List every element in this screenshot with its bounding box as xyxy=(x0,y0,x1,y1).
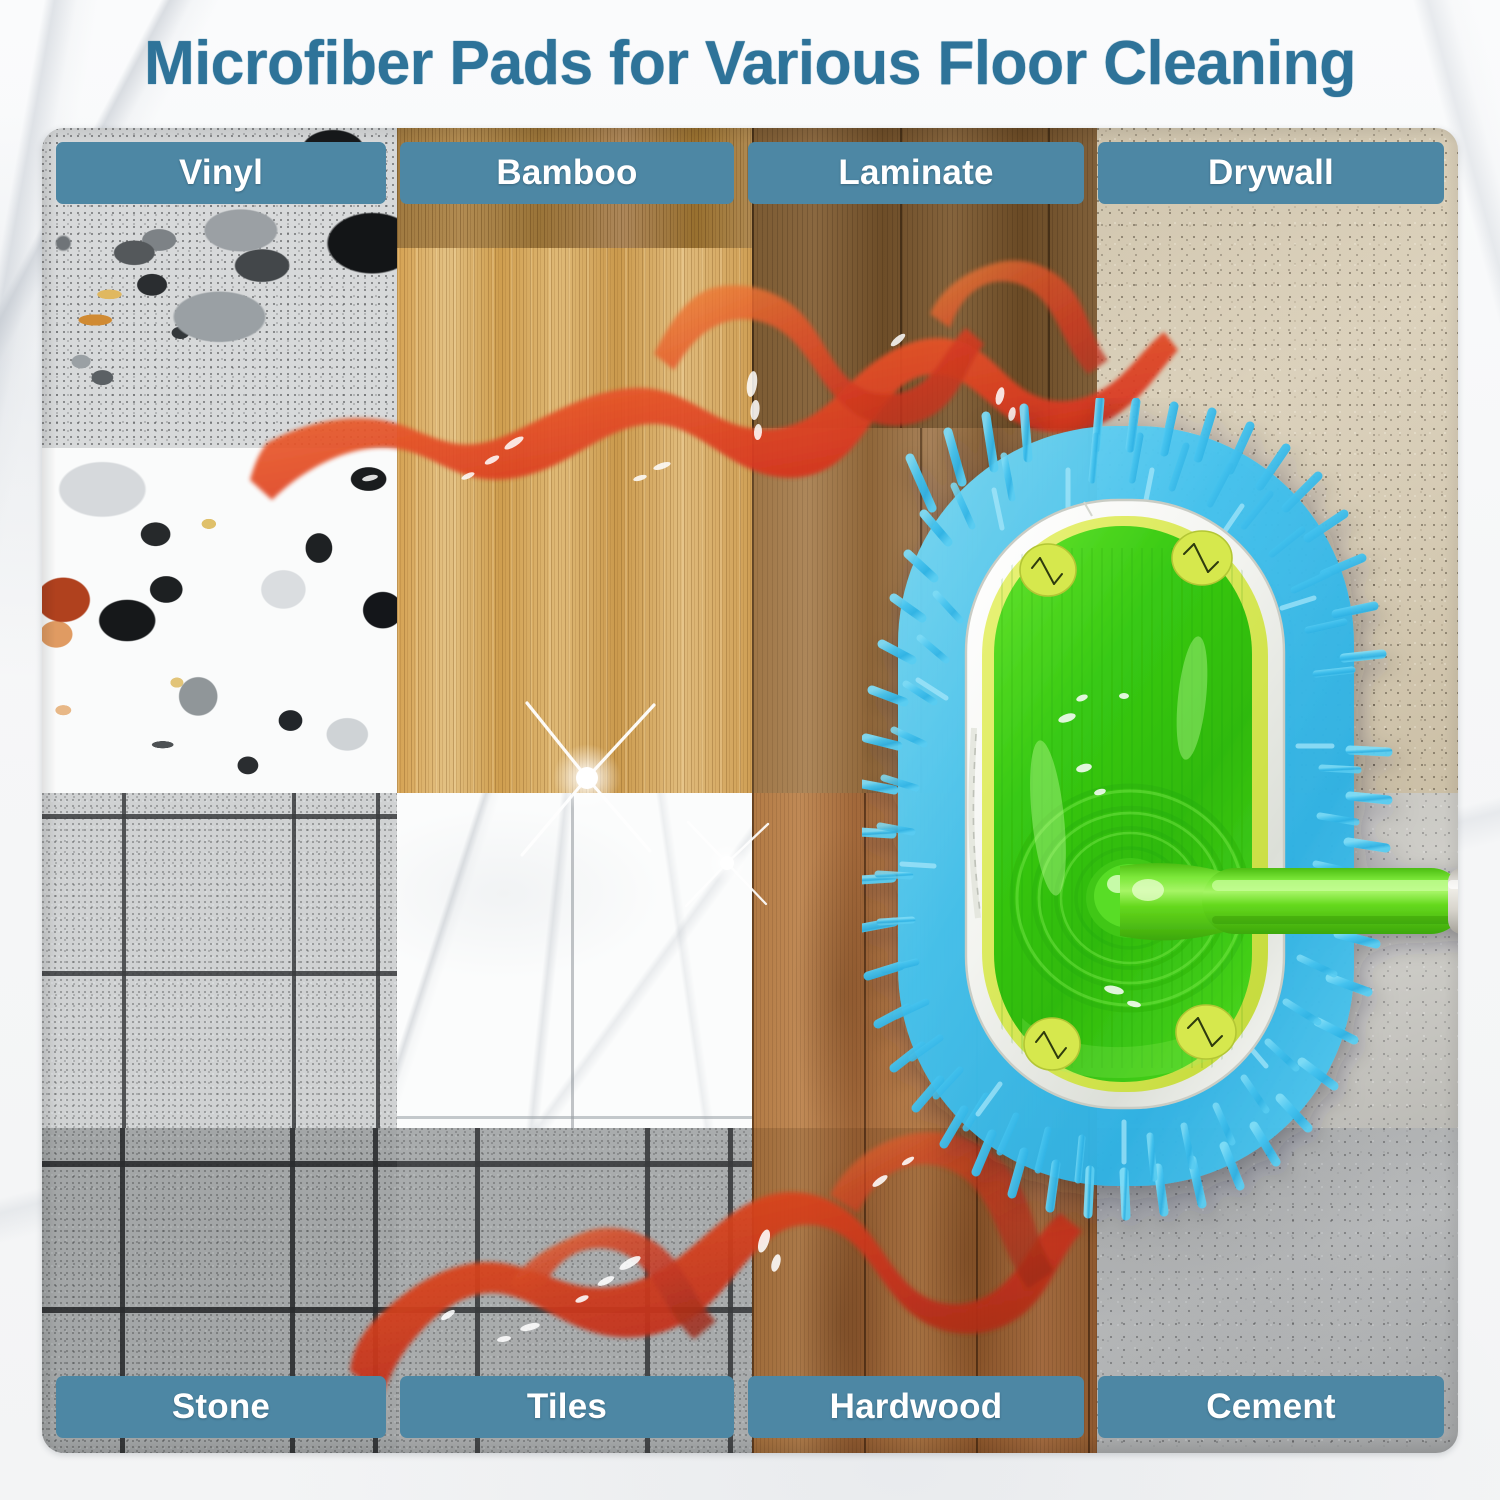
label-cement-text: Cement xyxy=(1206,1387,1336,1427)
label-laminate-text: Laminate xyxy=(838,153,993,193)
label-hardwood[interactable]: Hardwood xyxy=(748,1376,1084,1438)
label-tiles[interactable]: Tiles xyxy=(400,1376,734,1438)
label-laminate[interactable]: Laminate xyxy=(748,142,1084,204)
label-vinyl-text: Vinyl xyxy=(179,153,263,193)
collage-vignette xyxy=(42,128,1458,1453)
label-drywall-text: Drywall xyxy=(1208,153,1334,193)
label-bamboo[interactable]: Bamboo xyxy=(400,142,734,204)
page-title: Microfiber Pads for Various Floor Cleani… xyxy=(15,28,1485,99)
label-drywall[interactable]: Drywall xyxy=(1098,142,1444,204)
label-vinyl[interactable]: Vinyl xyxy=(56,142,386,204)
label-bamboo-text: Bamboo xyxy=(496,153,637,193)
label-cement[interactable]: Cement xyxy=(1098,1376,1444,1438)
product-image-canvas: Microfiber Pads for Various Floor Cleani… xyxy=(0,0,1500,1500)
label-stone[interactable]: Stone xyxy=(56,1376,386,1438)
label-tiles-text: Tiles xyxy=(527,1387,607,1427)
surface-collage: Vinyl Bamboo Laminate Drywall Stone Tile… xyxy=(42,128,1458,1453)
label-stone-text: Stone xyxy=(172,1387,270,1427)
label-hardwood-text: Hardwood xyxy=(830,1387,1003,1427)
